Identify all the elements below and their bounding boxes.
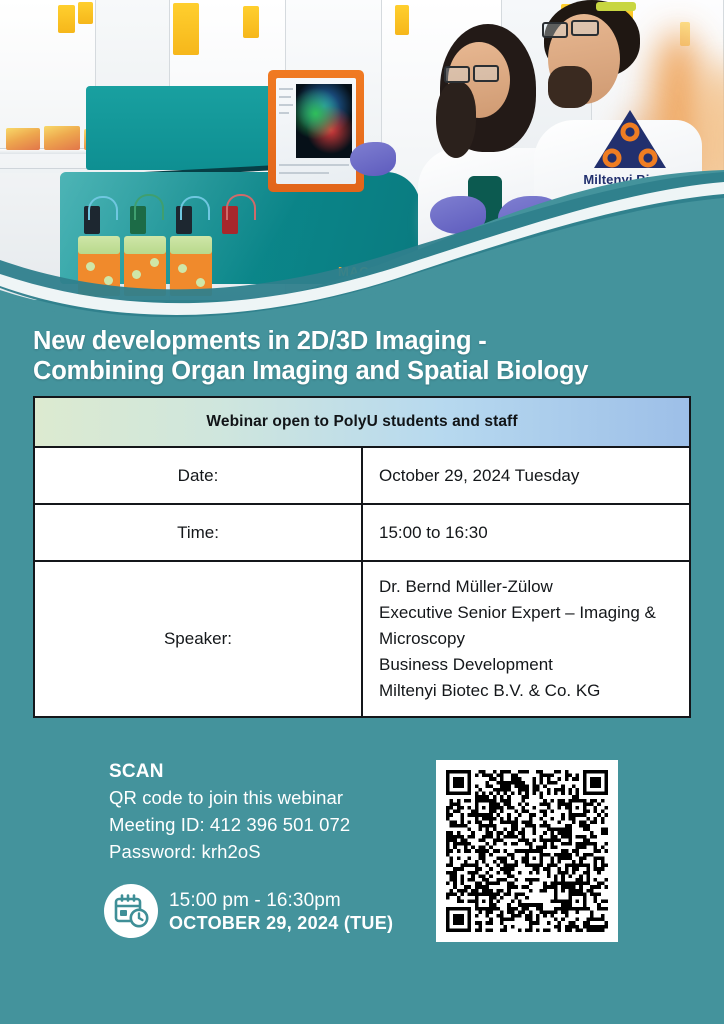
bottle-dot [150,258,159,267]
row-label-date: Date: [34,447,362,504]
tubing [226,194,256,220]
scientist-female-hair [436,82,476,158]
row-value-time: 15:00 to 16:30 [362,504,690,561]
scan-instruction: QR code to join this webinar [109,784,409,811]
monitor-ui-line [279,172,329,174]
scientist-female-glove [350,142,396,176]
scientist-male-beard [548,66,592,108]
miltenyi-logo-text: Miltenyi Biotec [560,172,700,187]
bottle-dot [86,262,95,271]
scientist-female-glasses [444,66,470,83]
meeting-password: Password: krh2oS [109,838,409,865]
monitor-ui-line [279,164,349,166]
scan-section: SCAN QR code to join this webinar Meetin… [109,760,409,865]
monitor-ui-line [279,96,291,98]
monitor-screen [276,78,356,184]
scientist-male-glasses [571,20,599,36]
page-title: New developments in 2D/3D Imaging - Comb… [33,326,703,386]
scientist-male-glove [498,196,562,240]
reagent-bottle [124,236,166,254]
scan-heading: SCAN [109,760,409,784]
meeting-id: Meeting ID: 412 396 501 072 [109,811,409,838]
instrument-label: MACSima [338,264,402,279]
lab-marker [78,2,93,24]
tubing [180,196,210,220]
monitor-ui-line [279,112,289,114]
reagent-bottle [124,250,166,296]
scientist-male-glasses [542,22,568,38]
scientist-female-top [468,176,502,300]
miltenyi-triangle-icon [592,108,668,170]
date-time-badge: 15:00 pm - 16:30pm OCTOBER 29, 2024 (TUE… [104,884,393,938]
reagent-bottle [78,250,120,296]
table-header-row: Webinar open to PolyU students and staff [34,397,690,447]
table-row: Date: October 29, 2024 Tuesday [34,447,690,504]
reagent-bottle [170,250,212,296]
bottle-dot [132,270,141,279]
row-label-time: Time: [34,504,362,561]
scientist-male-goggle-strap [596,2,636,11]
bottle-dot [178,264,187,273]
row-value-speaker: Dr. Bernd Müller-Zülow Executive Senior … [362,561,690,717]
table-row: Speaker: Dr. Bernd Müller-Zülow Executiv… [34,561,690,717]
tubing [134,194,164,220]
monitor-image [296,84,352,158]
bottle-dot [196,278,205,287]
monitor-ui-line [279,104,293,106]
qr-code-canvas[interactable] [446,770,608,932]
tubing [88,196,118,220]
lab-box [44,126,80,150]
badge-time: 15:00 pm - 16:30pm [169,889,393,912]
calendar-clock-glyph [113,893,149,929]
lab-marker [395,5,409,35]
row-value-date: October 29, 2024 Tuesday [362,447,690,504]
reagent-bottle [170,236,212,254]
table-row: Time: 15:00 to 16:30 [34,504,690,561]
monitor-ui-line [279,88,293,90]
miltenyi-biotec-logo: Miltenyi Biotec [560,108,700,196]
reagent-bottle [78,236,120,254]
table-header-cell: Webinar open to PolyU students and staff [34,397,690,447]
lab-marker [173,3,199,55]
scientist-female-glasses [473,65,499,82]
badge-text: 15:00 pm - 16:30pm OCTOBER 29, 2024 (TUE… [169,889,393,934]
lab-marker [243,6,259,38]
webinar-info-table: Webinar open to PolyU students and staff… [33,396,691,718]
lab-marker [58,5,75,33]
calendar-clock-icon [104,884,158,938]
badge-date: OCTOBER 29, 2024 (TUE) [169,912,393,934]
banner-photo: MACSima [0,0,724,300]
bottle-dot [104,276,113,285]
lab-box [6,128,40,150]
webinar-poster: MACSima [0,0,724,1024]
scientist-female-glove [430,196,486,234]
qr-code[interactable] [436,760,618,942]
row-label-speaker: Speaker: [34,561,362,717]
